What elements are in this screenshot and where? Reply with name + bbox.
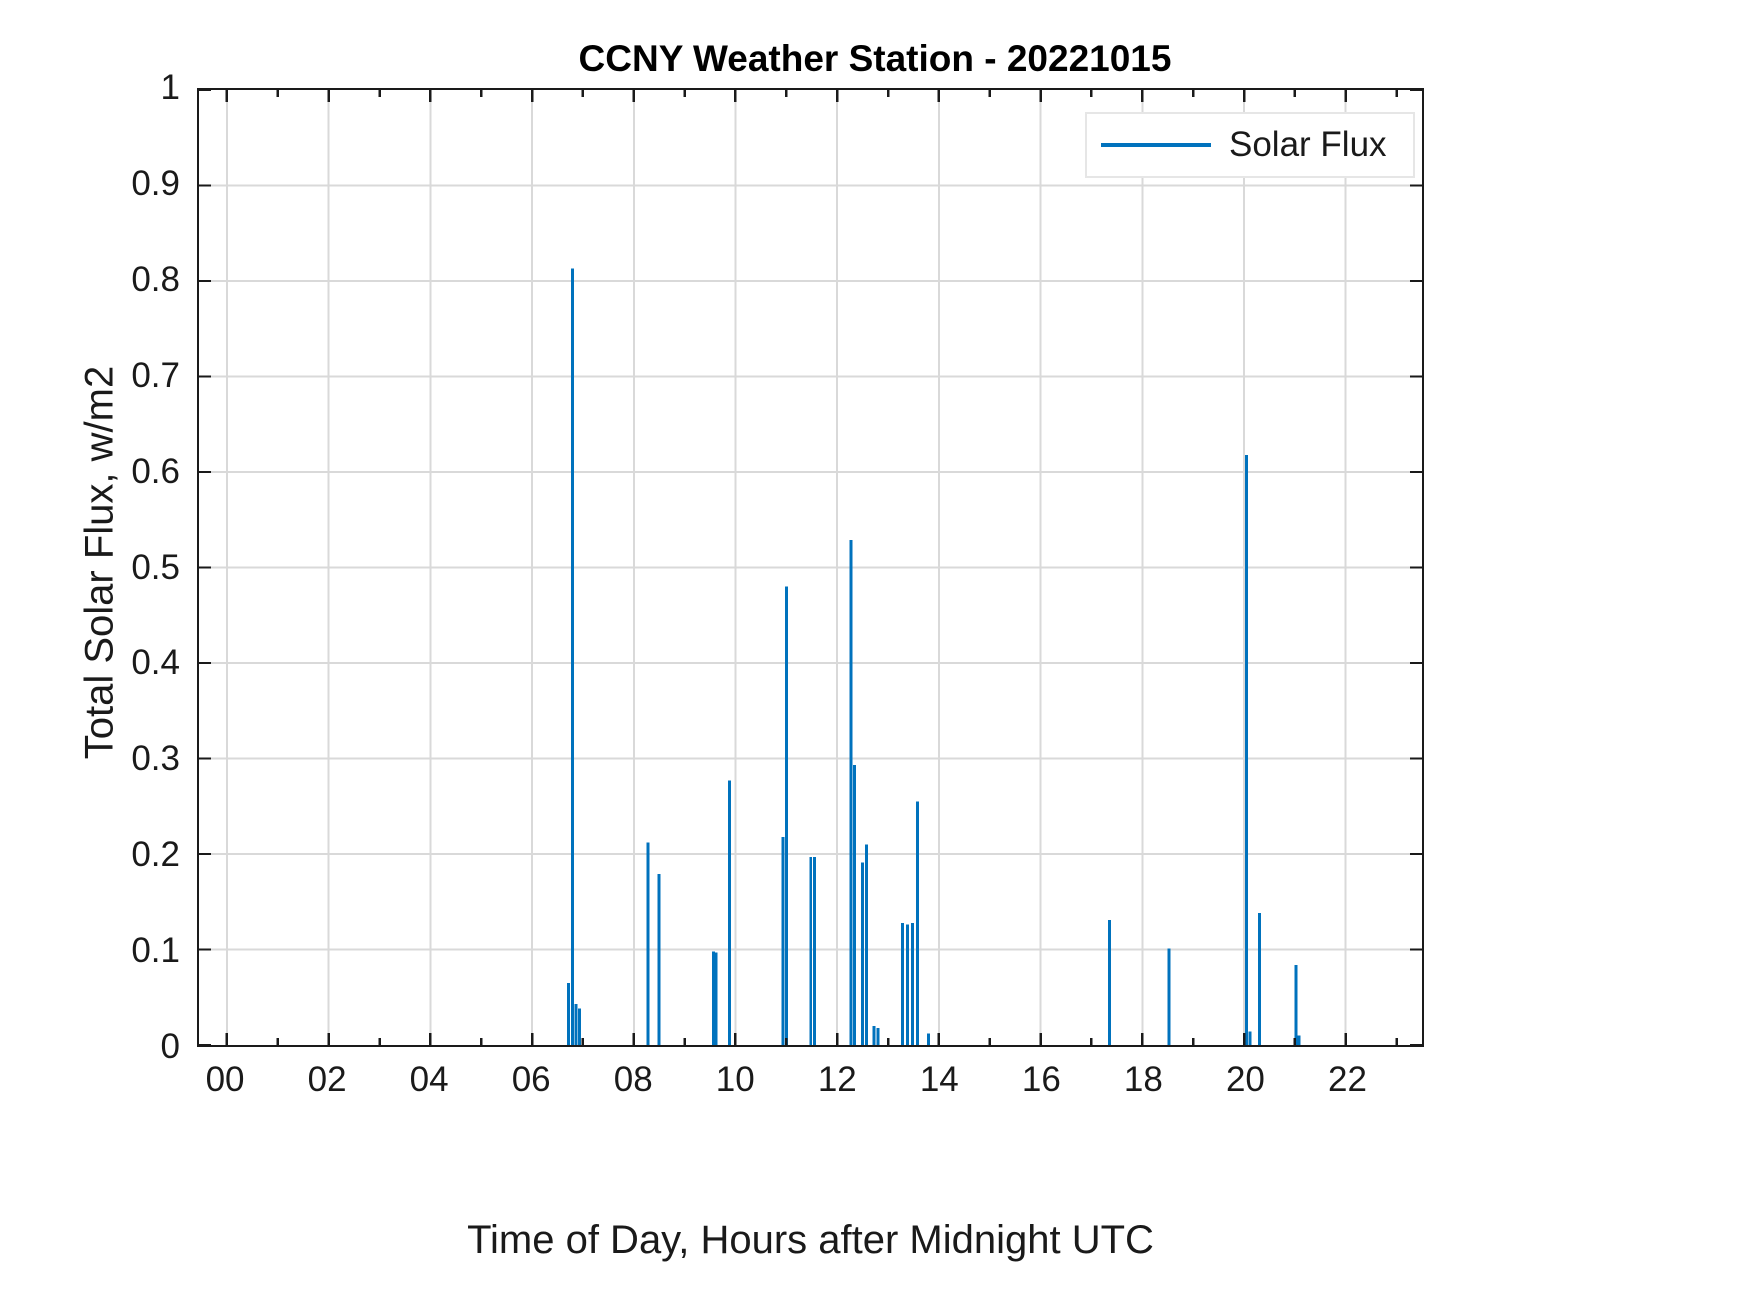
legend: Solar Flux	[1085, 112, 1415, 178]
x-tick-label: 22	[1328, 1060, 1367, 1100]
x-tick-label: 02	[308, 1060, 347, 1100]
x-tick-label: 16	[1022, 1060, 1061, 1100]
x-tick-label: 06	[512, 1060, 551, 1100]
y-tick-label: 0.7	[131, 356, 180, 396]
x-axis-label: Time of Day, Hours after Midnight UTC	[197, 1218, 1424, 1263]
y-tick-label: 0.2	[131, 835, 180, 875]
y-tick-label: 0.9	[131, 164, 180, 204]
figure-canvas: CCNY Weather Station - 20221015 Total So…	[0, 0, 1750, 1313]
y-tick-label: 1	[161, 68, 180, 108]
x-tick-label: 20	[1226, 1060, 1265, 1100]
x-tick-label: 04	[410, 1060, 449, 1100]
x-axis-tick-labels: 000204060810121416182022	[197, 1060, 1424, 1106]
x-tick-label: 10	[716, 1060, 755, 1100]
y-axis-tick-labels: 00.10.20.30.40.50.60.70.80.91	[40, 88, 180, 1047]
x-tick-label: 12	[818, 1060, 857, 1100]
y-tick-label: 0.6	[131, 452, 180, 492]
y-tick-label: 0	[161, 1027, 180, 1067]
y-tick-label: 0.8	[131, 260, 180, 300]
x-tick-label: 14	[920, 1060, 959, 1100]
page-title: CCNY Weather Station - 20221015	[0, 38, 1750, 80]
legend-line-swatch	[1101, 143, 1211, 147]
axis-ticks	[199, 90, 1422, 1045]
legend-item-label: Solar Flux	[1229, 125, 1387, 165]
y-tick-label: 0.3	[131, 739, 180, 779]
plot-area	[197, 88, 1424, 1047]
y-tick-label: 0.5	[131, 548, 180, 588]
y-tick-label: 0.4	[131, 643, 180, 683]
x-tick-label: 08	[614, 1060, 653, 1100]
y-tick-label: 0.1	[131, 931, 180, 971]
x-tick-label: 18	[1124, 1060, 1163, 1100]
x-tick-label: 00	[206, 1060, 245, 1100]
